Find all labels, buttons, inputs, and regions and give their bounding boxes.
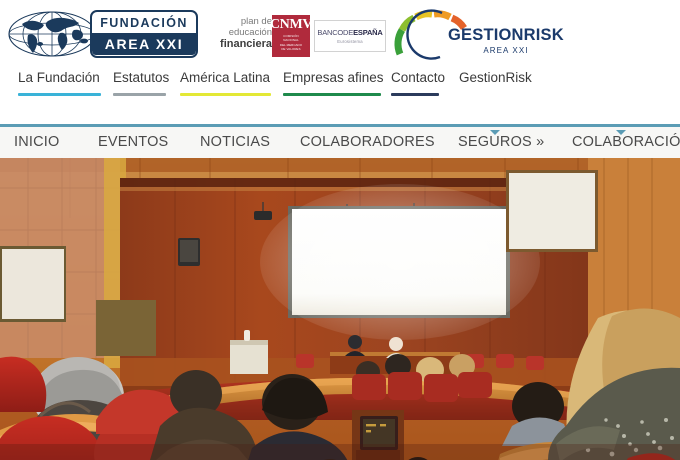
primary-navigation-inner: INICIO EVENTOS NOTICIAS COLABORADORES SE…: [0, 127, 680, 158]
subnav-underline: [459, 93, 531, 96]
cnmv-sub-line4: DE VALORES: [280, 47, 302, 51]
subnav-item-america-latina[interactable]: América Latina: [180, 68, 271, 102]
subnav-label: Contacto: [391, 68, 439, 88]
fundacion-line2: AREA XXI: [92, 33, 196, 55]
subnav-label: América Latina: [180, 68, 271, 88]
subnav-underline: [180, 93, 271, 96]
fundacion-area-xxi-logo[interactable]: FUNDACIÓN AREA XXI: [8, 10, 198, 58]
plan-line2: financiera: [196, 38, 272, 51]
subnav-underline: [113, 93, 166, 96]
globe-icon: [8, 11, 96, 57]
fundacion-line1: FUNDACIÓN: [92, 12, 196, 33]
bde-light: BANCODE: [317, 28, 353, 37]
subnav-item-la-fundacion[interactable]: La Fundación: [18, 68, 101, 102]
page-root: FUNDACIÓN AREA XXI plan de educación fin…: [0, 0, 680, 460]
nav-label: SEGUROS »: [458, 134, 544, 150]
nav-item-eventos[interactable]: EVENTOS: [98, 133, 168, 151]
chevron-down-icon: [490, 130, 500, 135]
gestionrisk-logo[interactable]: GESTIONRISK AREA XXI: [390, 8, 540, 62]
gestionrisk-sub: AREA XXI: [448, 47, 564, 55]
nav-label: EVENTOS: [98, 134, 168, 150]
chevron-down-icon: [616, 130, 626, 135]
subnav-underline: [283, 93, 381, 96]
bde-bold: ESPAÑA: [353, 28, 383, 37]
subnav-underline: [391, 93, 439, 96]
subnav-item-contacto[interactable]: Contacto: [391, 68, 439, 102]
plan-line1: plan de educación: [196, 16, 272, 38]
fundacion-wordmark: FUNDACIÓN AREA XXI: [90, 10, 198, 58]
nav-item-noticias[interactable]: NOTICIAS: [200, 133, 270, 151]
plan-educacion-financiera-logo[interactable]: plan de educación financiera: [196, 16, 272, 51]
bde-wordmark: BANCODEESPAÑA: [317, 28, 382, 37]
subnav-item-empresas-afines[interactable]: Empresas afines: [283, 68, 381, 102]
auditorium-illustration: [0, 158, 680, 460]
secondary-navigation: La Fundación Estatutos América Latina Em…: [0, 68, 680, 112]
nav-label: COLABORADORES: [300, 134, 435, 150]
subnav-label: Estatutos: [113, 68, 166, 88]
conference-auditorium-photo: [0, 158, 680, 460]
gestionrisk-main: GESTIONRISK: [448, 27, 564, 44]
subnav-item-gestionrisk[interactable]: GestionRisk: [459, 68, 531, 102]
nav-item-colaboradores[interactable]: COLABORADORES: [300, 133, 435, 151]
cnmv-subtitle: COMISIÓN NACIONAL DEL MERCADO DE VALORES: [280, 34, 302, 51]
nav-label: INICIO: [14, 134, 60, 150]
banco-de-espana-logo[interactable]: BANCODEESPAÑA Eurosistema: [314, 20, 386, 52]
nav-label: NOTICIAS: [200, 134, 270, 150]
subnav-label: Empresas afines: [283, 68, 381, 88]
nav-item-seguros[interactable]: SEGUROS »: [458, 133, 544, 151]
cnmv-wordmark: CNMV: [270, 18, 312, 32]
bde-subtitle: Eurosistema: [337, 39, 362, 44]
subnav-label: GestionRisk: [459, 68, 531, 88]
primary-navigation: INICIO EVENTOS NOTICIAS COLABORADORES SE…: [0, 124, 680, 158]
subnav-underline: [18, 93, 101, 96]
gestionrisk-wordmark: GESTIONRISK AREA XXI: [448, 27, 564, 55]
nav-label: COLABORACIÓN: [572, 134, 680, 150]
cnmv-logo[interactable]: CNMV COMISIÓN NACIONAL DEL MERCADO DE VA…: [272, 15, 310, 57]
nav-item-inicio[interactable]: INICIO: [14, 133, 60, 151]
header-logo-strip: FUNDACIÓN AREA XXI plan de educación fin…: [0, 0, 680, 68]
subnav-label: La Fundación: [18, 68, 101, 88]
subnav-item-estatutos[interactable]: Estatutos: [113, 68, 166, 102]
nav-item-colaboracion[interactable]: COLABORACIÓN: [572, 133, 680, 151]
